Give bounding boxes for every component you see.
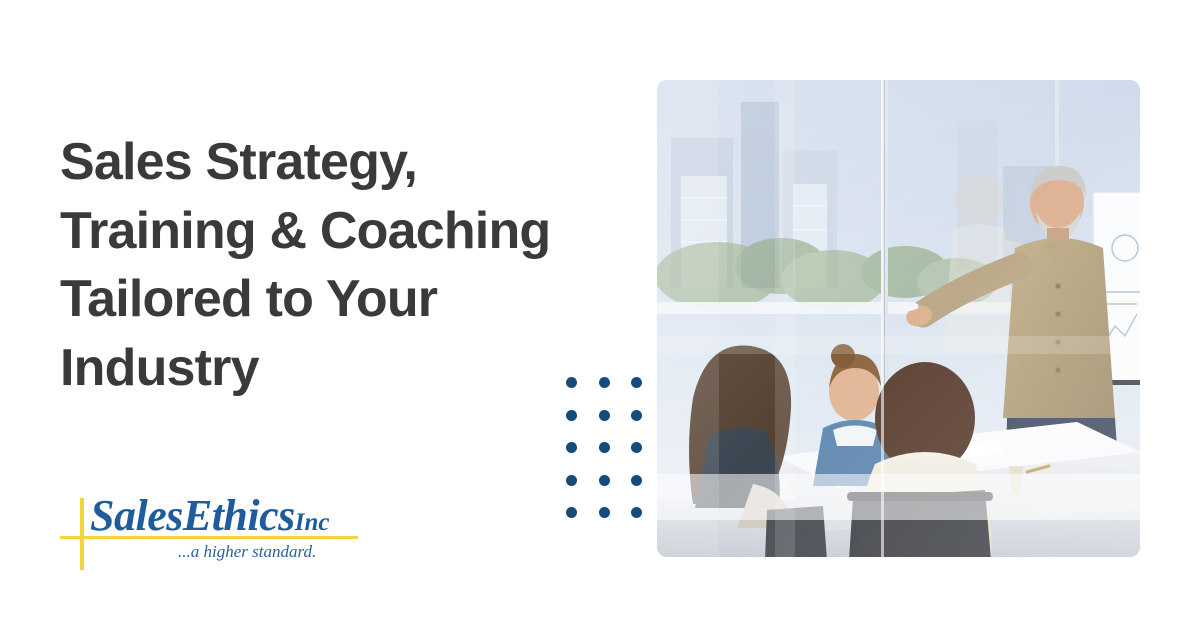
dot — [631, 377, 642, 388]
headline-line-2: Training & Coaching — [60, 197, 660, 266]
logo[interactable]: SalesEthicsInc ...a higher standard. — [60, 488, 380, 580]
dot — [566, 377, 577, 388]
logo-tagline: ...a higher standard. — [178, 542, 316, 562]
hero-photo-artwork — [657, 80, 1140, 557]
dot — [599, 442, 610, 453]
page-title: Sales Strategy, Training & Coaching Tail… — [60, 128, 660, 403]
dot — [566, 442, 577, 453]
dot — [566, 507, 577, 518]
logo-word-primary: SalesEthics — [90, 491, 295, 540]
dot — [599, 475, 610, 486]
dot — [599, 507, 610, 518]
logo-cross-vertical-icon — [80, 498, 84, 570]
dot — [566, 410, 577, 421]
logo-word-suffix: Inc — [295, 509, 330, 536]
dot — [631, 442, 642, 453]
dot — [631, 507, 642, 518]
dot — [599, 410, 610, 421]
dot — [631, 475, 642, 486]
logo-wordmark: SalesEthicsInc — [90, 490, 330, 541]
dot — [631, 410, 642, 421]
dot — [566, 475, 577, 486]
banner-canvas: Sales Strategy, Training & Coaching Tail… — [0, 0, 1200, 630]
headline-line-3: Tailored to Your — [60, 265, 660, 334]
dot — [599, 377, 610, 388]
headline-line-1: Sales Strategy, — [60, 128, 660, 197]
hero-photo — [657, 80, 1140, 557]
